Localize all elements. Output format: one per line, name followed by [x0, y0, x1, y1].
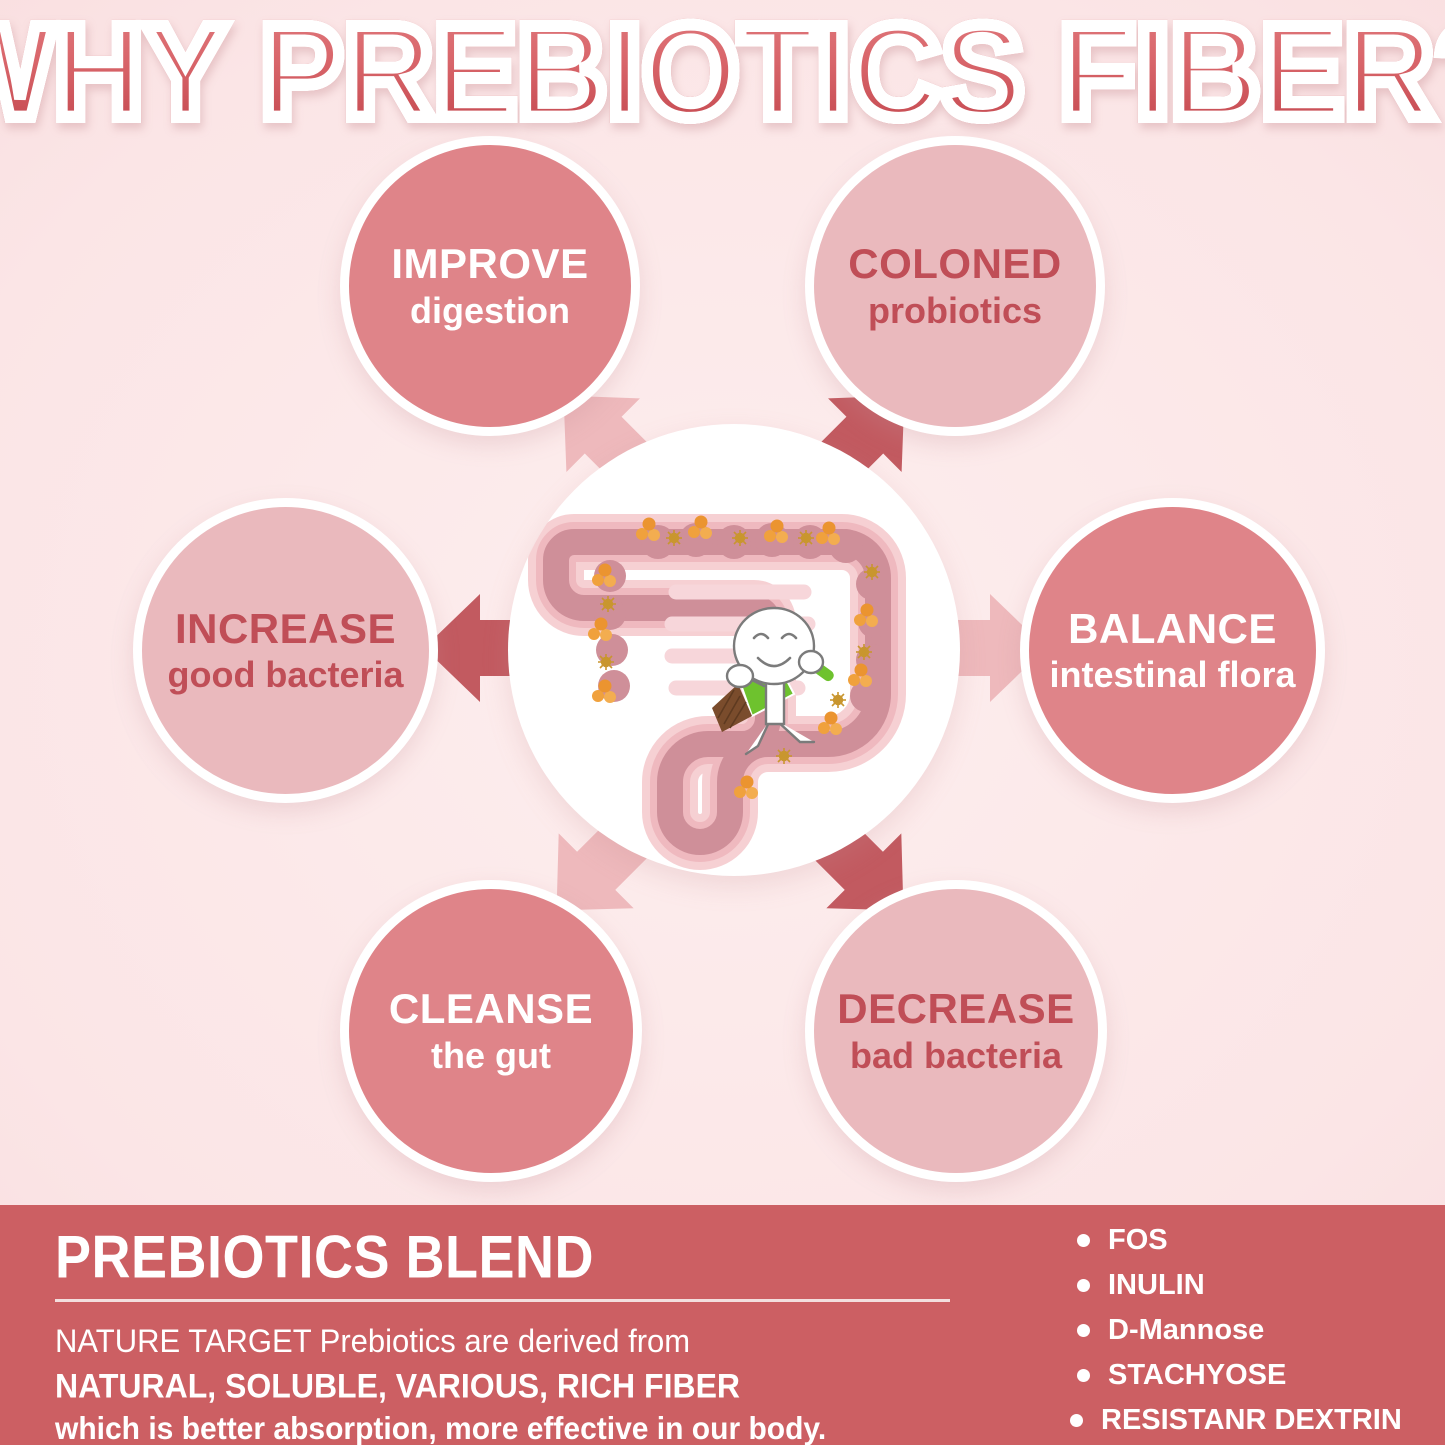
bubble-decrease-head: DECREASE [837, 987, 1074, 1032]
list-item: INULIN [1020, 1263, 1445, 1308]
ingredient-label: INULIN [1108, 1269, 1205, 1302]
bubble-coloned-head: COLONED [848, 242, 1062, 287]
list-item: FOS [1020, 1218, 1445, 1263]
bullet-icon [1077, 1369, 1090, 1382]
bubble-increase-sub: good bacteria [167, 656, 403, 694]
bubble-improve-sub: digestion [410, 292, 570, 330]
list-item: RESISTANR DEXTRIN [1020, 1398, 1445, 1443]
bubble-decrease[interactable]: DECREASE bad bacteria [805, 880, 1107, 1182]
list-item: STACHYOSE [1020, 1353, 1445, 1398]
ingredient-label: RESISTANR DEXTRIN [1101, 1404, 1402, 1437]
banner-text-column: PREBIOTICS BLEND NATURE TARGET Prebiotic… [0, 1205, 1010, 1444]
list-item: D-Mannose [1020, 1308, 1445, 1353]
blend-line-1: NATURE TARGET Prebiotics are derived fro… [55, 1319, 1010, 1363]
blend-divider [55, 1299, 950, 1302]
bubble-balance-sub: intestinal flora [1049, 656, 1295, 694]
blend-line-2: NATURAL, SOLUBLE, VARIOUS, RICH FIBER [55, 1363, 1010, 1408]
bubble-balance[interactable]: BALANCE intestinal flora [1020, 498, 1325, 803]
page-title: WHY PREBIOTICS FIBER? [0, 6, 1445, 138]
blend-description: NATURE TARGET Prebiotics are derived fro… [55, 1319, 1010, 1445]
blend-heading: PREBIOTICS BLEND [55, 1227, 1010, 1287]
infographic-poster: WHY PREBIOTICS FIBER? [0, 0, 1445, 1445]
prebiotics-blend-banner: PREBIOTICS BLEND NATURE TARGET Prebiotic… [0, 1205, 1445, 1445]
bullet-icon [1077, 1324, 1090, 1337]
bubble-improve-head: IMPROVE [391, 242, 588, 287]
bullet-icon [1077, 1234, 1090, 1247]
bubble-cleanse-sub: the gut [431, 1037, 551, 1075]
bubble-improve[interactable]: IMPROVE digestion [340, 136, 640, 436]
page-title-container: WHY PREBIOTICS FIBER? [0, 6, 1445, 138]
bullet-icon [1077, 1279, 1090, 1292]
ingredient-label: STACHYOSE [1108, 1359, 1286, 1392]
bullet-icon [1070, 1414, 1083, 1427]
bubble-cleanse[interactable]: CLEANSE the gut [340, 880, 642, 1182]
colon-with-sweeping-character-icon [508, 424, 960, 876]
bubble-balance-head: BALANCE [1068, 607, 1277, 652]
ingredient-label: FOS [1108, 1224, 1168, 1257]
bubble-increase-head: INCREASE [175, 607, 396, 652]
bubble-cleanse-head: CLEANSE [389, 987, 593, 1032]
colon-illustration-hub [508, 424, 960, 876]
ingredient-label: D-Mannose [1108, 1314, 1264, 1347]
bubble-increase[interactable]: INCREASE good bacteria [133, 498, 438, 803]
bubble-decrease-sub: bad bacteria [850, 1037, 1062, 1075]
bubble-coloned[interactable]: COLONED probiotics [805, 136, 1105, 436]
blend-line-3: which is better absorption, more effecti… [55, 1408, 1010, 1445]
ingredient-list: FOS INULIN D-Mannose STACHYOSE RESISTANR… [1020, 1218, 1445, 1443]
ingredient-column: FOS INULIN D-Mannose STACHYOSE RESISTANR… [1010, 1205, 1445, 1443]
bubble-coloned-sub: probiotics [868, 292, 1042, 330]
